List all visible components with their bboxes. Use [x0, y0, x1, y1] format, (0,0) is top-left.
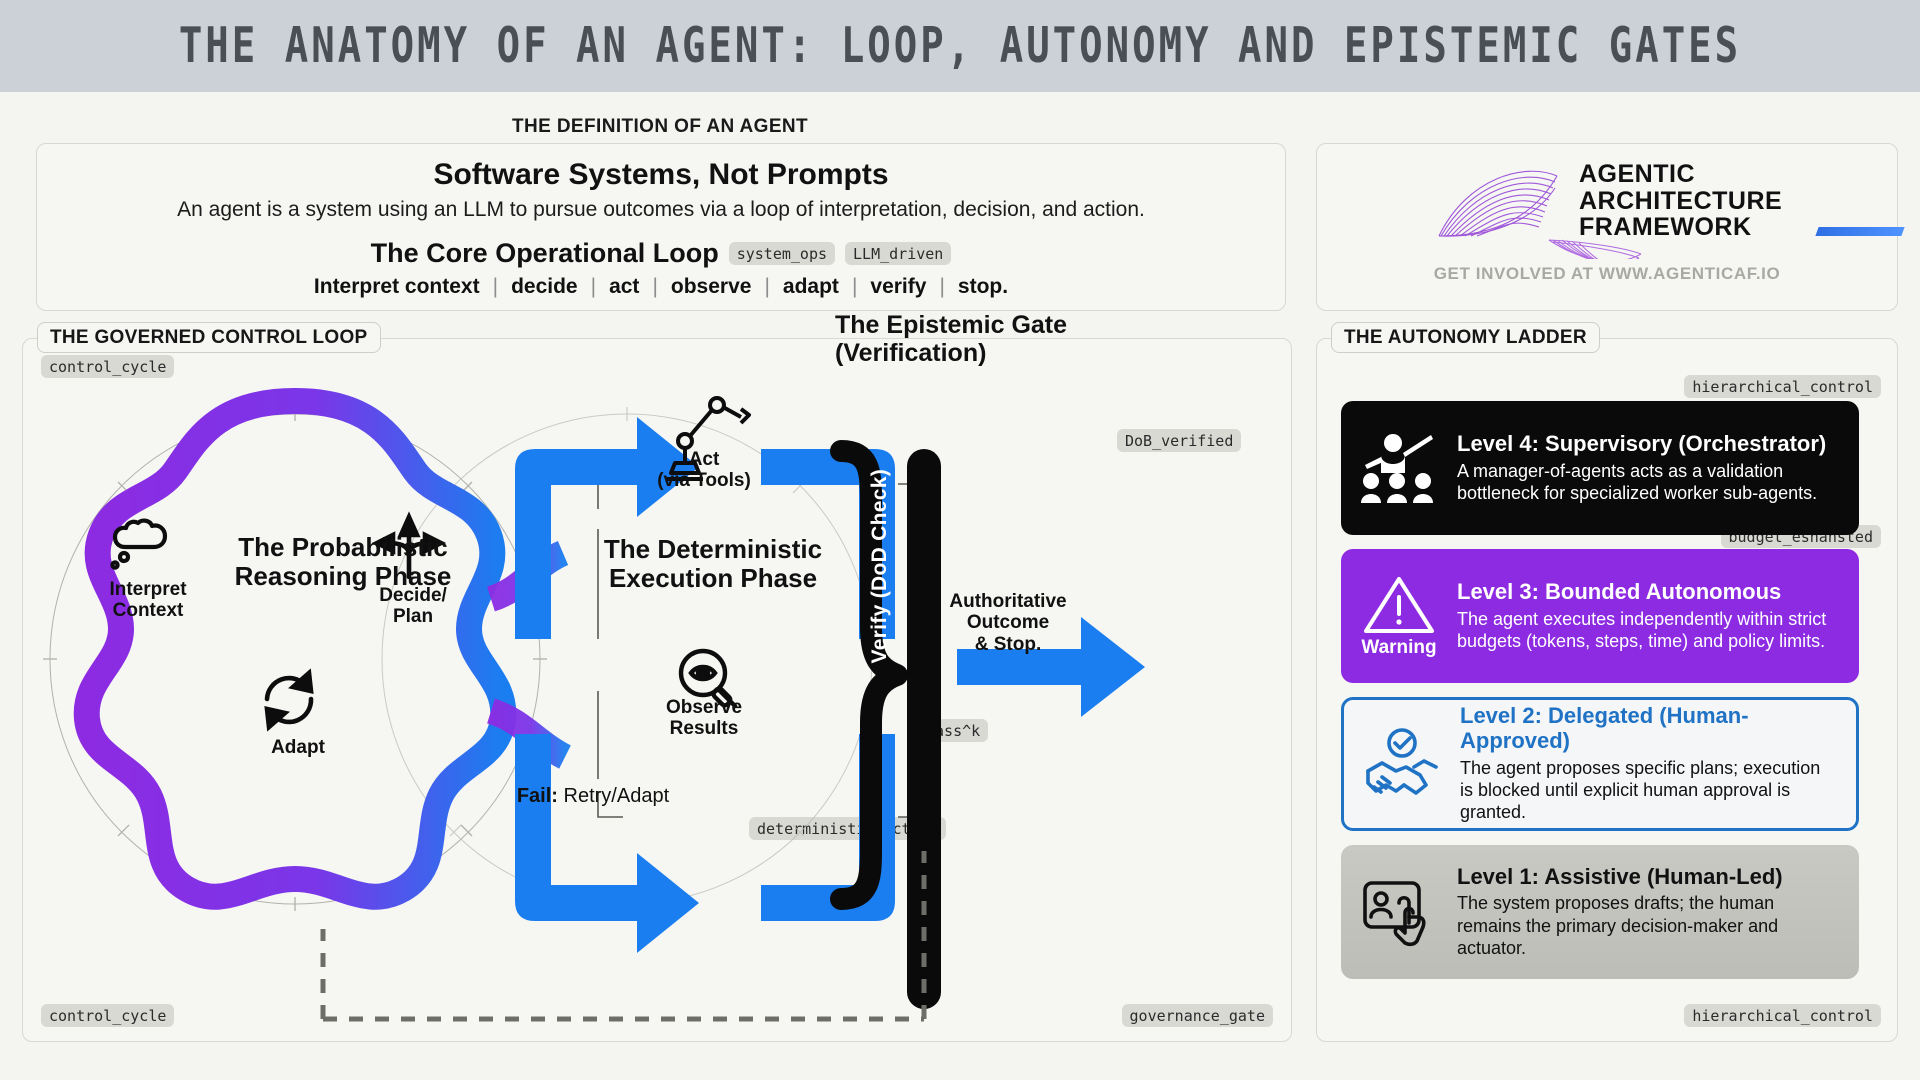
loop-step-5: verify — [857, 275, 939, 299]
autonomy-level-1-card[interactable]: Level 1: Assistive (Human-Led) The syste… — [1341, 845, 1859, 979]
autonomy-level-3-card[interactable]: Warning Level 3: Bounded Autonomous The … — [1341, 549, 1859, 683]
definition-heading: Software Systems, Not Prompts — [37, 158, 1285, 192]
autonomy-level-4-body: Level 4: Supervisory (Orchestrator) A ma… — [1457, 432, 1841, 504]
definition-section-label: THE DEFINITION OF AN AGENT — [36, 116, 1284, 138]
warning-caption: Warning — [1361, 637, 1436, 659]
loop-step-4: adapt — [770, 275, 852, 299]
brand-line-1: AGENTIC — [1579, 161, 1782, 188]
autonomy-level-2-body: Level 2: Delegated (Human-Approved) The … — [1460, 704, 1838, 823]
autonomy-ladder-section-label: THE AUTONOMY LADDER — [1331, 322, 1600, 353]
execution-phase-label: The DeterministicExecution Phase — [563, 535, 863, 593]
verify-dod-check-label: Verify (DoD Check) — [868, 469, 892, 663]
person-card-hand-icon — [1355, 875, 1443, 949]
node-act: Act(via Tools) — [619, 449, 789, 492]
fail-retry-label: Fail: Retry/Adapt — [443, 785, 743, 807]
brand-wordmark: AGENTIC ARCHITECTURE FRAMEWORK — [1579, 161, 1782, 241]
tag-hierarchical-control-top: hierarchical_control — [1684, 375, 1881, 398]
orchestrator-icon — [1355, 431, 1443, 505]
fail-rest: Retry/Adapt — [558, 785, 669, 807]
autonomy-level-2-title: Level 2: Delegated (Human-Approved) — [1460, 704, 1838, 753]
autonomy-level-4-title: Level 4: Supervisory (Orchestrator) — [1457, 432, 1841, 457]
control-loop-diagram — [23, 339, 1291, 1041]
loop-step-2: act — [596, 275, 652, 299]
node-observe-results: ObserveResults — [619, 697, 789, 740]
node-interpret-context: InterpretContext — [78, 579, 218, 622]
warning-triangle-icon: Warning — [1355, 573, 1443, 659]
loop-step-0: Interpret context — [301, 275, 493, 299]
autonomy-level-4-card[interactable]: Level 4: Supervisory (Orchestrator) A ma… — [1341, 401, 1859, 535]
reasoning-phase-label: The ProbabilisticReasoning Phase — [198, 533, 488, 591]
loop-step-1: decide — [498, 275, 591, 299]
authoritative-outcome-label: AuthoritativeOutcome& Stop. — [913, 591, 1103, 655]
node-decide-plan: Decide/Plan — [353, 585, 473, 628]
brand-line-2: ARCHITECTURE — [1579, 188, 1782, 215]
autonomy-level-3-body: Level 3: Bounded Autonomous The agent ex… — [1457, 580, 1841, 652]
autonomy-level-2-card[interactable]: Level 2: Delegated (Human-Approved) The … — [1341, 697, 1859, 831]
autonomy-level-1-body: Level 1: Assistive (Human-Led) The syste… — [1457, 865, 1841, 960]
autonomy-level-1-desc: The system proposes drafts; the human re… — [1457, 892, 1841, 959]
page-title: THE ANATOMY OF AN AGENT: LOOP, AUTONOMY … — [179, 18, 1741, 74]
poster-root: THE ANATOMY OF AN AGENT: LOOP, AUTONOMY … — [0, 0, 1920, 1080]
autonomy-level-3-desc: The agent executes independently within … — [1457, 608, 1841, 653]
loop-step-6: stop. — [945, 275, 1021, 299]
autonomy-level-2-desc: The agent proposes specific plans; execu… — [1460, 757, 1838, 824]
tag-hierarchical-control-bottom: hierarchical_control — [1684, 1004, 1881, 1027]
epistemic-gate-title: The Epistemic Gate(Verification) — [835, 312, 1075, 367]
autonomy-level-1-title: Level 1: Assistive (Human-Led) — [1457, 865, 1841, 890]
title-bar: THE ANATOMY OF AN AGENT: LOOP, AUTONOMY … — [0, 0, 1920, 92]
brand-logo: AGENTIC ARCHITECTURE FRAMEWORK — [1317, 144, 1897, 259]
thought-cloud-icon — [112, 521, 165, 568]
brand-accent-bar — [1815, 227, 1904, 236]
definition-subheading: An agent is a system using an LLM to pur… — [37, 198, 1285, 222]
tag-system-ops: system_ops — [729, 242, 835, 265]
tag-llm-driven: LLM_driven — [845, 242, 951, 265]
fail-bold: Fail: — [517, 785, 558, 807]
loop-step-3: observe — [658, 275, 765, 299]
definition-panel: Software Systems, Not Prompts An agent i… — [36, 143, 1286, 311]
core-loop-steps: Interpret context | decide | act | obser… — [37, 275, 1285, 299]
autonomy-level-4-desc: A manager-of-agents acts as a validation… — [1457, 460, 1841, 505]
autonomy-ladder-panel: THE AUTONOMY LADDER hierarchical_control… — [1316, 338, 1898, 1042]
adapt-refresh-icon — [267, 673, 311, 727]
core-loop-title-row: The Core Operational Loop system_ops LLM… — [37, 238, 1285, 269]
handshake-check-icon — [1358, 727, 1446, 801]
node-adapt: Adapt — [238, 737, 358, 758]
brand-url: GET INVOLVED AT WWW.AGENTICAF.IO — [1317, 264, 1897, 284]
brand-line-3: FRAMEWORK — [1579, 214, 1782, 241]
control-loop-panel: THE GOVERNED CONTROL LOOP control_cycle … — [22, 338, 1292, 1042]
autonomy-level-3-title: Level 3: Bounded Autonomous — [1457, 580, 1841, 605]
brand-panel: AGENTIC ARCHITECTURE FRAMEWORK GET INVOL… — [1316, 143, 1898, 311]
core-loop-title: The Core Operational Loop — [371, 238, 719, 269]
